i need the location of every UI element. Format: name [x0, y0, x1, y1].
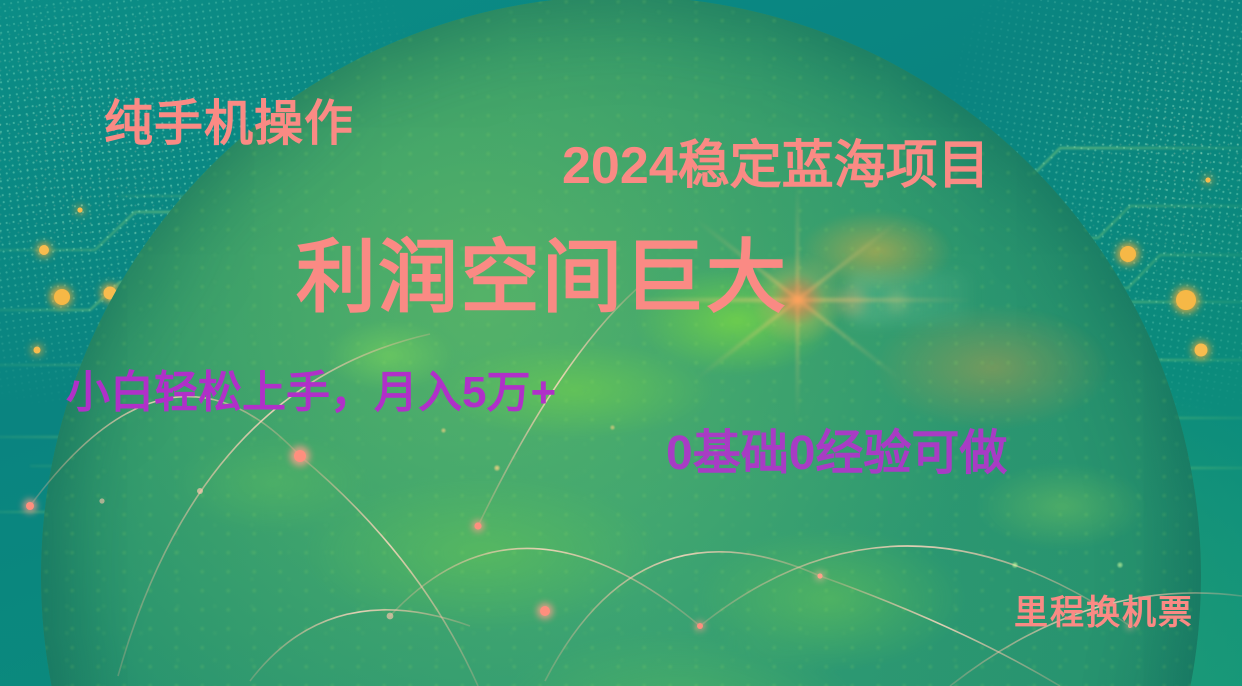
brand-watermark: 里程换机票 [1014, 596, 1194, 630]
tagline-top-right: 2024稳定蓝海项目 [562, 140, 990, 192]
headline: 利润空间巨大 [296, 238, 788, 318]
subline-right: 0基础0经验可做 [666, 430, 1007, 478]
text-layer: 纯手机操作 2024稳定蓝海项目 利润空间巨大 小白轻松上手，月入5万+ 0基础… [0, 0, 1242, 686]
subline-left: 小白轻松上手，月入5万+ [66, 371, 556, 415]
promo-poster: 纯手机操作 2024稳定蓝海项目 利润空间巨大 小白轻松上手，月入5万+ 0基础… [0, 0, 1242, 686]
tagline-top-left: 纯手机操作 [104, 100, 354, 149]
